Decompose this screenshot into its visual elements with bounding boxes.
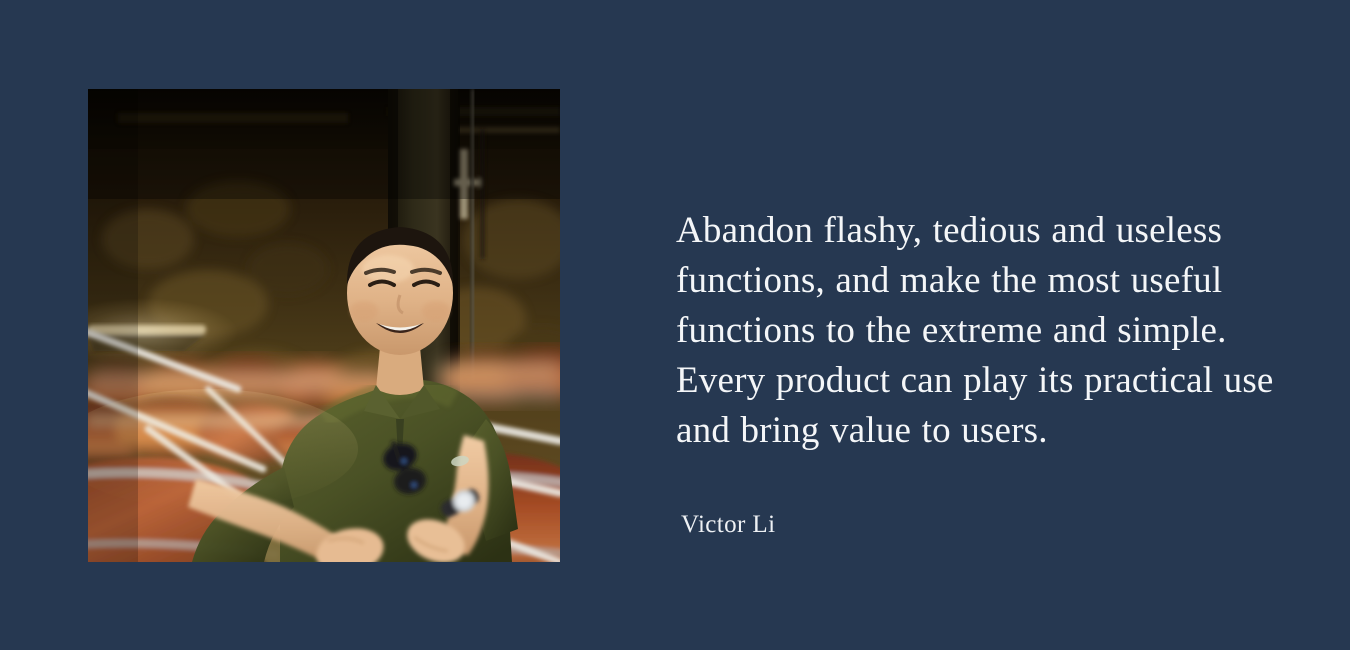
portrait-photo bbox=[88, 89, 560, 562]
attribution: Victor Li bbox=[681, 509, 1181, 541]
quote-text: Abandon flashy, tedious and useless func… bbox=[676, 206, 1306, 456]
quote-block: Abandon flashy, tedious and useless func… bbox=[676, 206, 1306, 456]
attribution-name: Victor Li bbox=[681, 509, 1181, 541]
portrait-photo-image bbox=[88, 89, 560, 562]
quote-slide: Abandon flashy, tedious and useless func… bbox=[0, 0, 1350, 650]
